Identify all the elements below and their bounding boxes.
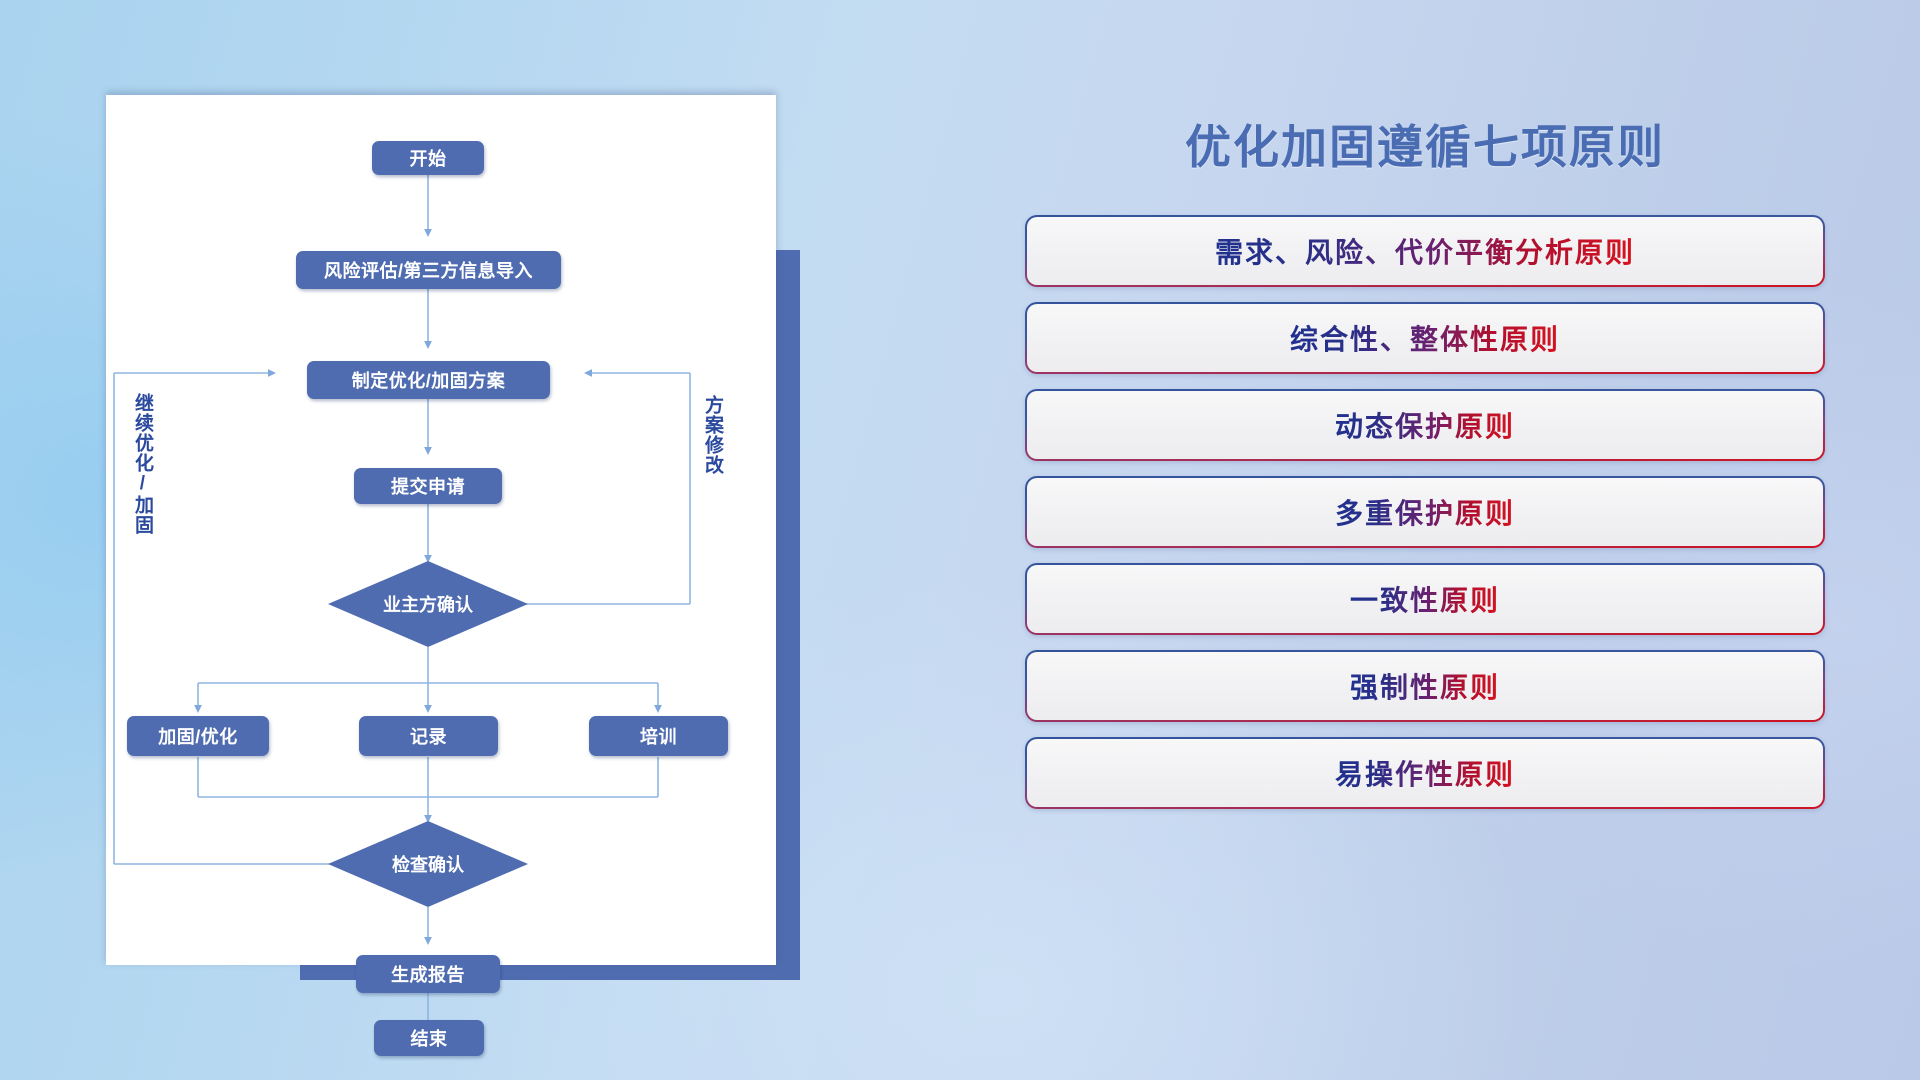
flowchart-diagram: 开始 风险评估/第三方信息导入 制定优化/加固方案 提交申请 业主方确认 加固/… [106,95,776,965]
flow-node-plan[interactable]: 制定优化/加固方案 [307,361,550,399]
principle-card[interactable]: 易操作性原则 [1025,737,1825,809]
flow-node-risk-assessment[interactable]: 风险评估/第三方信息导入 [296,251,561,289]
panel-title: 优化加固遵循七项原则 [1010,111,1840,177]
flow-node-label: 记录 [410,723,447,749]
principle-label: 多重保护原则 [1335,492,1515,532]
flow-node-label: 业主方确认 [383,591,473,617]
principles-panel: 优化加固遵循七项原则 需求、风险、代价平衡分析原则 综合性、整体性原则 动态保护… [1010,95,1840,995]
flow-node-end[interactable]: 结束 [374,1020,484,1056]
principle-label: 综合性、整体性原则 [1290,318,1560,358]
flow-node-training[interactable]: 培训 [589,716,728,756]
principle-label: 易操作性原则 [1335,753,1515,793]
flow-node-label: 结束 [411,1025,448,1051]
slide-canvas: 开始 风险评估/第三方信息导入 制定优化/加固方案 提交申请 业主方确认 加固/… [0,0,1920,1080]
principle-card[interactable]: 动态保护原则 [1025,389,1825,461]
flow-node-label: 风险评估/第三方信息导入 [324,257,533,283]
flow-node-start[interactable]: 开始 [372,141,484,175]
principle-label: 强制性原则 [1350,666,1500,706]
principles-list: 需求、风险、代价平衡分析原则 综合性、整体性原则 动态保护原则 多重保护原则 一… [1025,215,1825,824]
flow-node-record[interactable]: 记录 [359,716,498,756]
principle-card[interactable]: 需求、风险、代价平衡分析原则 [1025,215,1825,287]
principle-card[interactable]: 综合性、整体性原则 [1025,302,1825,374]
flow-node-label: 开始 [410,145,447,171]
flow-node-submit-application[interactable]: 提交申请 [354,468,502,504]
flow-node-label: 检查确认 [392,851,464,877]
flow-node-label: 加固/优化 [158,723,238,749]
flowchart-card: 开始 风险评估/第三方信息导入 制定优化/加固方案 提交申请 业主方确认 加固/… [106,95,776,965]
flow-node-check-confirm[interactable]: 检查确认 [328,821,528,907]
edge-label-continue-optimize: 继续优化/加固 [132,393,152,535]
principle-label: 一致性原则 [1350,579,1500,619]
principle-label: 动态保护原则 [1335,405,1515,445]
flow-node-label: 制定优化/加固方案 [352,367,506,393]
edge-label-plan-revision: 方案修改 [702,395,722,475]
flow-node-label: 生成报告 [391,961,465,987]
principle-label: 需求、风险、代价平衡分析原则 [1215,231,1635,271]
flow-node-owner-confirm[interactable]: 业主方确认 [328,561,528,647]
flow-node-generate-report[interactable]: 生成报告 [356,955,500,993]
principle-card[interactable]: 一致性原则 [1025,563,1825,635]
principle-card[interactable]: 强制性原则 [1025,650,1825,722]
flow-node-label: 培训 [640,723,677,749]
principle-card[interactable]: 多重保护原则 [1025,476,1825,548]
flow-node-reinforce[interactable]: 加固/优化 [127,716,269,756]
flow-node-label: 提交申请 [391,473,465,499]
